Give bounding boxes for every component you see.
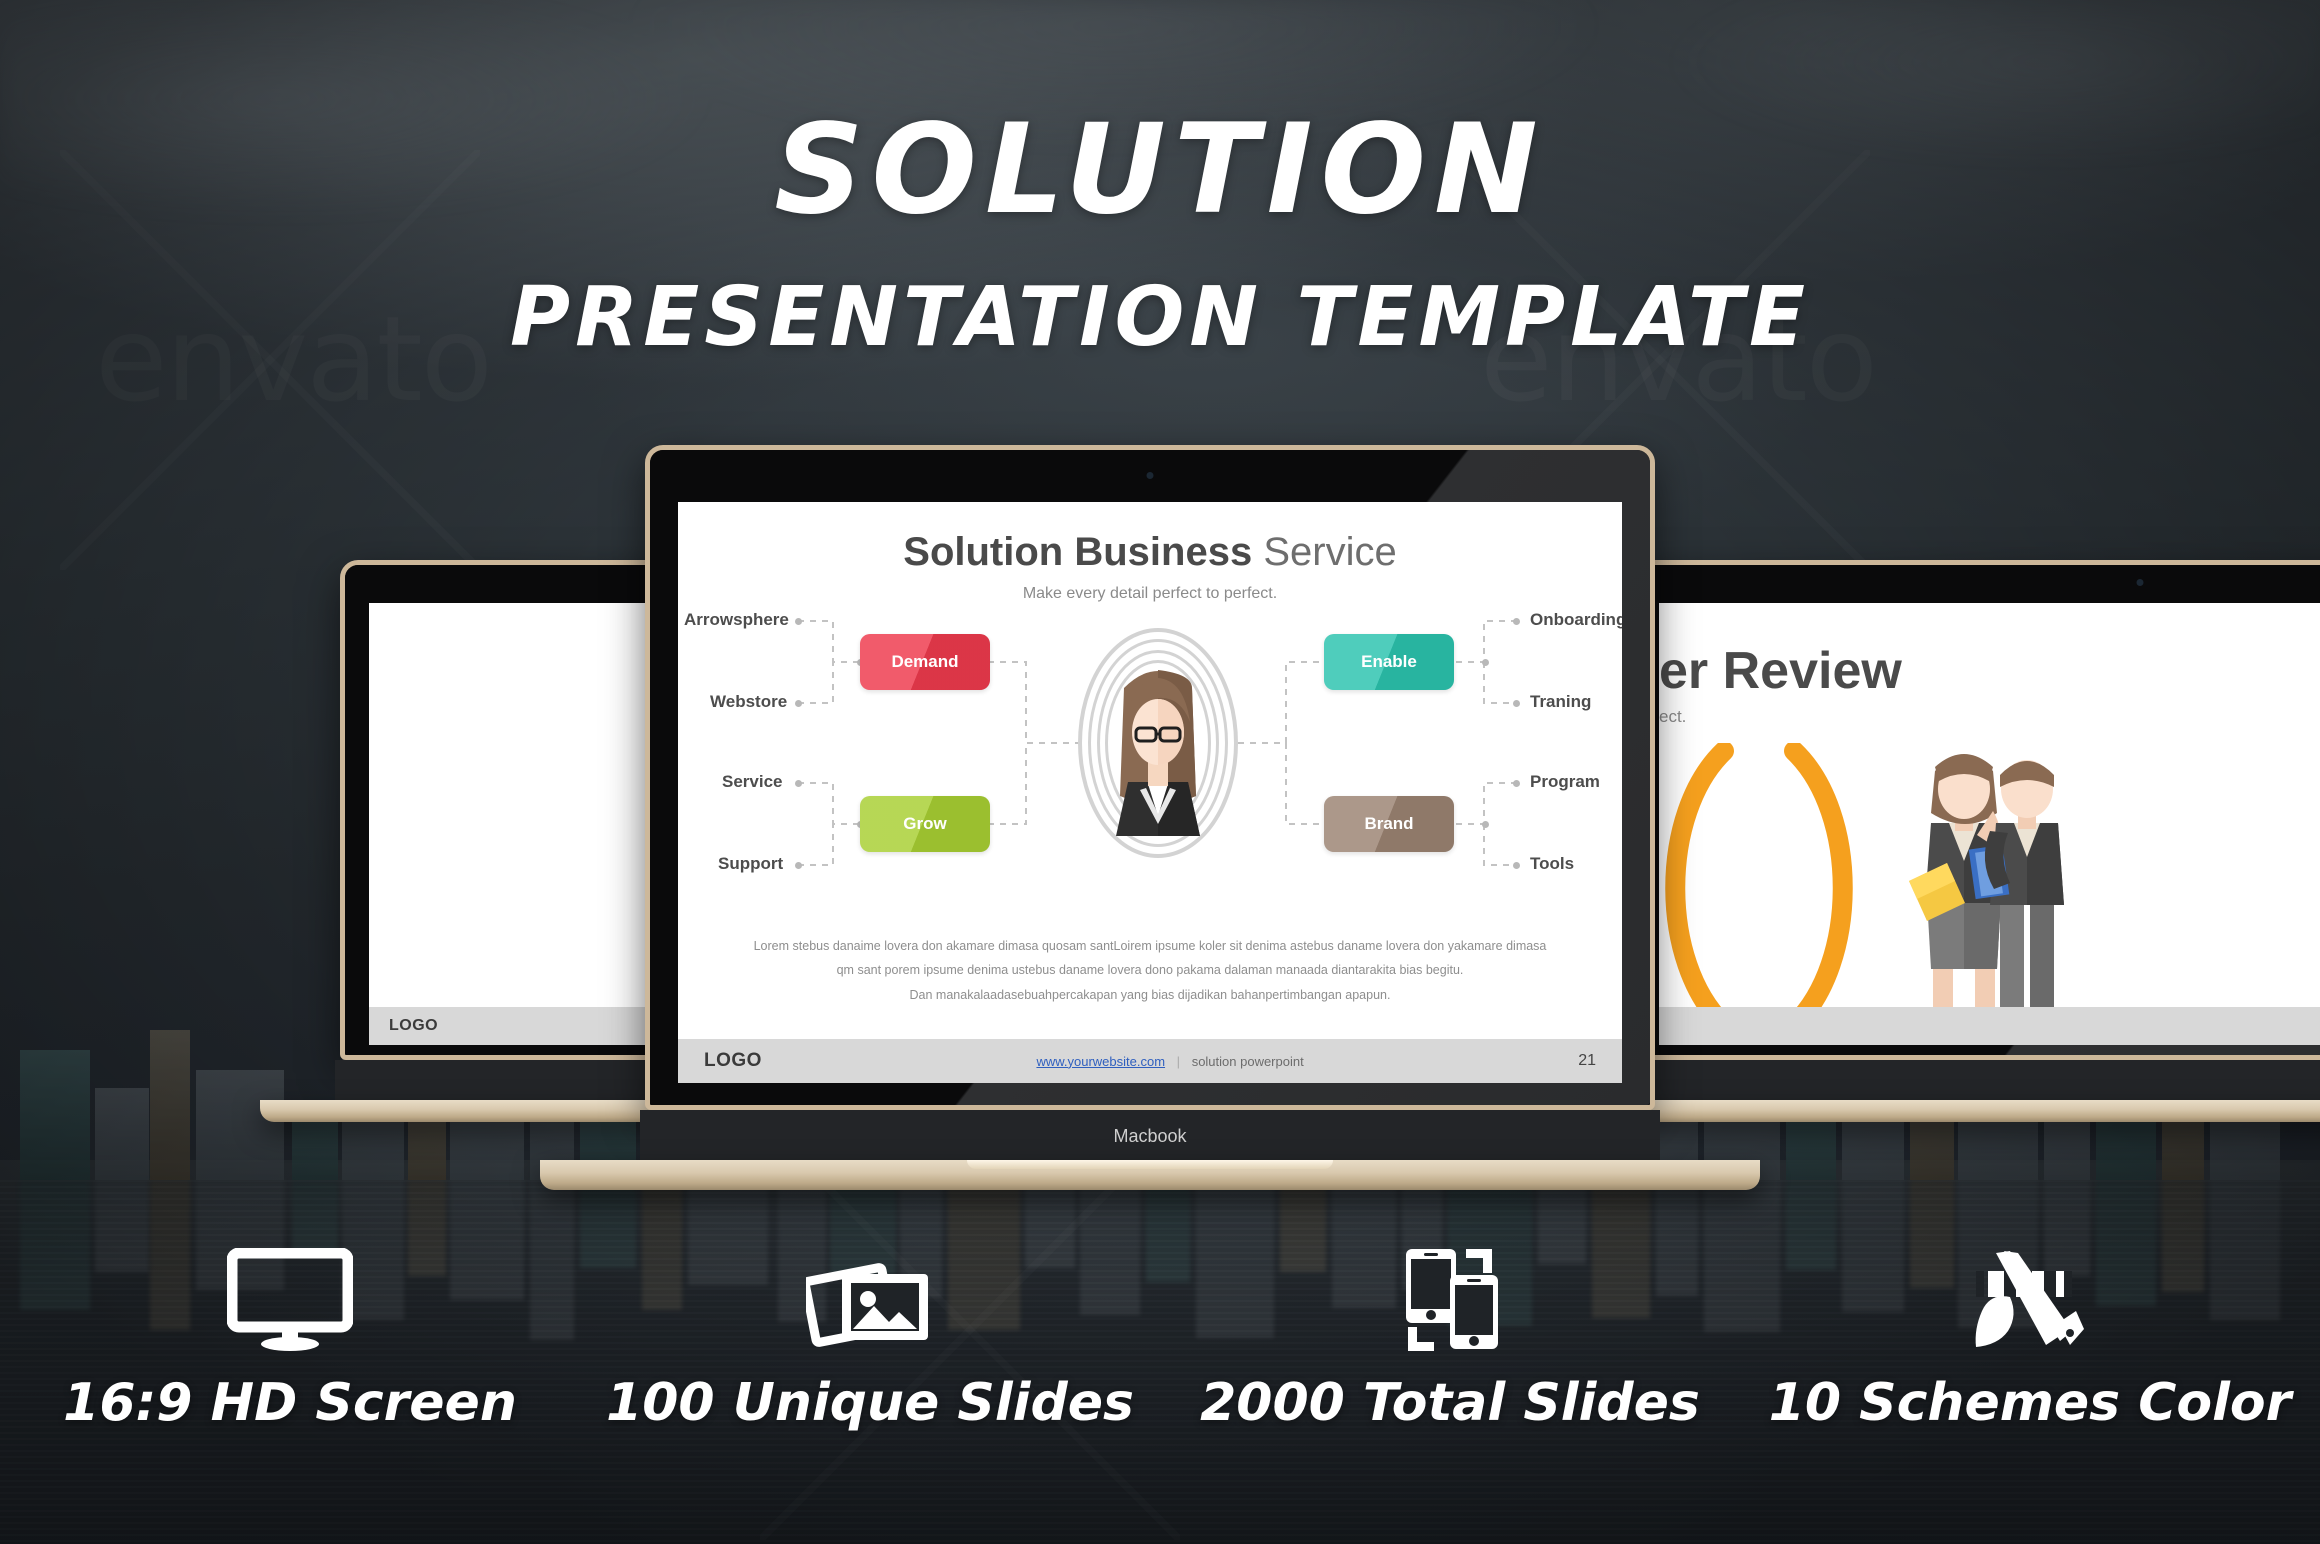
diagram-dot-rm2 [1482, 821, 1489, 828]
center-slide-body-line1: Lorem stebus danaime lovera don akamare … [678, 934, 1622, 958]
diagram-label-traning: Traning [1530, 692, 1591, 712]
diagram-node-enable[interactable]: Enable [1324, 634, 1454, 690]
right-laptop: er Review ect. [1630, 560, 2320, 1060]
right-slide-subtitle: ect. [1659, 707, 1686, 727]
diagram-node-enable-label: Enable [1361, 652, 1417, 672]
center-laptop-device-label: Macbook [640, 1126, 1660, 1147]
building [196, 1070, 284, 1180]
monitor-icon [227, 1235, 353, 1365]
diagram-dot-r2 [1513, 700, 1520, 707]
diagram-label-service: Service [722, 772, 783, 792]
diagram-dot-l4 [795, 862, 802, 869]
feature-schemes-color: 10 Schemes Color [1740, 1235, 2320, 1505]
feature-unique-slides-label: 100 Unique Slides [606, 1373, 1134, 1433]
diagram-label-support: Support [718, 854, 783, 874]
center-slide-body-line2: qm sant porem ipsume denima ustebus dana… [678, 958, 1622, 982]
brush-pen-icon [1966, 1235, 2094, 1365]
center-slide-logo: LOGO [704, 1050, 762, 1072]
feature-total-slides-label: 2000 Total Slides [1200, 1373, 1700, 1433]
avatar-woman-illustration [1108, 650, 1208, 836]
diagram-label-arrowsphere: Arrowsphere [684, 610, 789, 630]
center-slide-tagline: solution powerpoint [1192, 1054, 1304, 1069]
building [150, 1030, 190, 1180]
diagram-dot-r3 [1513, 780, 1520, 787]
feature-total-slides: 2000 Total Slides [1160, 1235, 1740, 1505]
right-slide: er Review ect. [1659, 603, 2320, 1045]
center-slide-website-link[interactable]: www.yourwebsite.com [1036, 1054, 1165, 1069]
diagram-node-grow-label: Grow [903, 814, 946, 834]
center-laptop-base-notch [967, 1160, 1333, 1169]
center-slide-body: Lorem stebus danaime lovera don akamare … [678, 934, 1622, 1007]
center-laptop-camera-icon [1147, 472, 1154, 479]
center-laptop-base [540, 1160, 1760, 1190]
right-laptop-lid: er Review ect. [1630, 560, 2320, 1060]
feature-hd-screen-label: 16:9 HD Screen [63, 1373, 517, 1433]
diagram-dot-rm1 [1482, 659, 1489, 666]
feature-unique-slides: 100 Unique Slides [580, 1235, 1160, 1505]
right-laptop-base [1550, 1100, 2320, 1122]
center-slide-footer: LOGO www.yourwebsite.com | solution powe… [678, 1039, 1622, 1083]
center-slide: Solution Business Service Make every det… [678, 502, 1622, 1083]
center-slide-page-number: 21 [1578, 1052, 1596, 1070]
building [95, 1088, 149, 1180]
feature-strip: 16:9 HD Screen 100 Unique Slides [0, 1235, 2320, 1505]
center-slide-footer-mid: www.yourwebsite.com | solution powerpoin… [762, 1054, 1578, 1069]
center-laptop: Solution Business Service Make every det… [645, 445, 1655, 1110]
diagram-dot-r4 [1513, 862, 1520, 869]
right-laptop-screen: er Review ect. [1659, 603, 2320, 1045]
hero-title-line1: SOLUTION [0, 108, 2320, 232]
diagram-label-tools: Tools [1530, 854, 1574, 874]
diagram-node-demand[interactable]: Demand [860, 634, 990, 690]
diagram-node-brand-label: Brand [1364, 814, 1413, 834]
diagram-label-program: Program [1530, 772, 1600, 792]
diagram-node-grow[interactable]: Grow [860, 796, 990, 852]
right-laptop-camera-icon [2137, 579, 2144, 586]
diagram-avatar [1078, 628, 1238, 858]
right-slide-title: er Review [1659, 641, 1902, 701]
center-laptop-lid-bottom: Macbook [640, 1110, 1660, 1160]
diagram-dot-l1 [795, 618, 802, 625]
hero-title-line2: PRESENTATION TEMPLATE [0, 270, 2320, 365]
feature-hd-screen: 16:9 HD Screen [0, 1235, 580, 1505]
devices-icon [1388, 1235, 1512, 1365]
diagram-dot-l3 [795, 780, 802, 787]
center-slide-footer-separator: | [1177, 1054, 1180, 1069]
diagram-label-webstore: Webstore [710, 692, 787, 712]
center-laptop-lid: Solution Business Service Make every det… [645, 445, 1655, 1110]
right-slide-footer: 18 [1659, 1007, 2320, 1045]
diagram-node-demand-label: Demand [891, 652, 958, 672]
poster-stage: envato envato SOLUTION PRESENTATION TEMP… [0, 0, 2320, 1544]
diagram-label-onboarding: Onboarding [1530, 610, 1622, 630]
hero-headline: SOLUTION PRESENTATION TEMPLATE [0, 108, 2320, 365]
building [20, 1050, 90, 1180]
feature-schemes-color-label: 10 Schemes Color [1769, 1373, 2292, 1433]
center-laptop-screen: Solution Business Service Make every det… [678, 502, 1622, 1083]
photos-icon [806, 1235, 934, 1365]
diagram-dot-r1 [1513, 618, 1520, 625]
left-slide-logo: LOGO [389, 1017, 438, 1035]
right-laptop-lid-bottom [1625, 1060, 2320, 1100]
right-slide-people-illustration [1869, 731, 2119, 1031]
diagram-node-brand[interactable]: Brand [1324, 796, 1454, 852]
center-slide-body-line3: Dan manakalaadasebuahpercakapan yang bia… [678, 983, 1622, 1007]
diagram-dot-l2 [795, 700, 802, 707]
